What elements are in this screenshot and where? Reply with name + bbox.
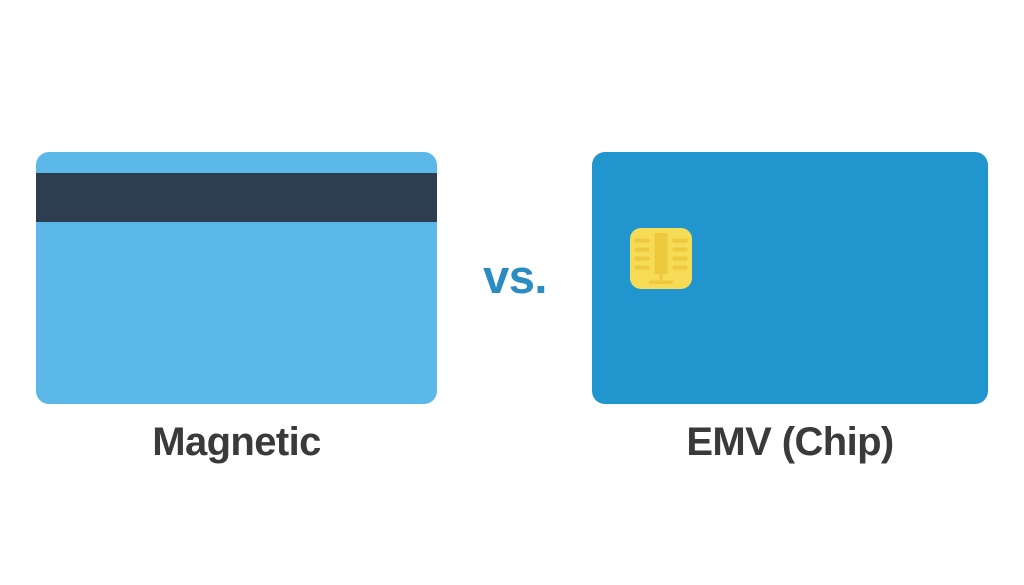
emv-chip-svg — [630, 228, 692, 289]
magnetic-card-caption: Magnetic — [36, 418, 437, 466]
magnetic-stripe-band — [36, 173, 437, 222]
emv-card-caption: EMV (Chip) — [592, 418, 988, 466]
versus-label: vs. — [440, 246, 590, 306]
emv-chip-graphic — [630, 228, 692, 289]
comparison-graphic: vs. — [0, 0, 1024, 585]
magnetic-stripe-card-icon — [36, 152, 437, 404]
emv-chip-card-icon — [592, 152, 988, 404]
